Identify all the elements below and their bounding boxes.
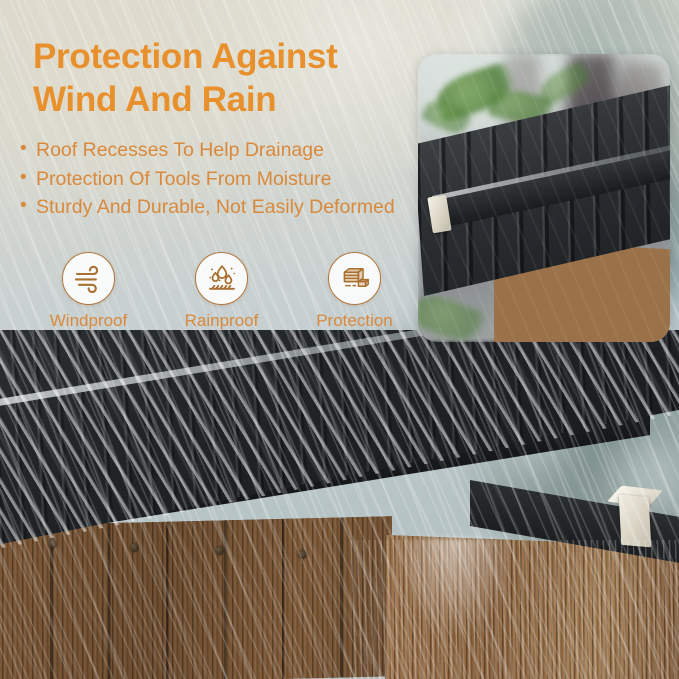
feature-icon-row: Windproof Rainproof xyxy=(22,252,422,342)
raindrops-icon xyxy=(195,252,248,305)
wall-screw xyxy=(298,550,307,559)
bullet-item: Protection Of Tools From Moisture xyxy=(20,166,420,194)
headline-line-1: Protection Against xyxy=(33,35,413,78)
headline-line-2: Wind And Rain xyxy=(33,78,413,121)
feature-bullet-list: Roof Recesses To Help Drainage Protectio… xyxy=(20,137,420,223)
product-feature-image: Protection Against Wind And Rain Roof Re… xyxy=(0,0,679,679)
shed-wood-wall-left xyxy=(0,516,392,679)
feature-label: Protection xyxy=(316,312,393,329)
feature-rainproof: Rainproof xyxy=(155,252,288,342)
bullet-item: Roof Recesses To Help Drainage xyxy=(20,137,420,165)
stacked-boards-icon xyxy=(328,252,381,305)
wall-screw xyxy=(130,543,139,552)
main-roof-photo xyxy=(0,330,679,679)
wall-screw xyxy=(48,540,57,549)
inset-roof-closeup-photo xyxy=(418,54,670,342)
rain-splash xyxy=(390,538,520,643)
headline: Protection Against Wind And Rain xyxy=(33,35,413,122)
wall-screw xyxy=(215,546,224,555)
feature-windproof: Windproof xyxy=(22,252,155,342)
bullet-item: Sturdy And Durable, Not Easily Deformed xyxy=(20,194,420,222)
feature-protection: Protection xyxy=(288,252,421,342)
inset-rain-layer xyxy=(418,54,670,342)
feature-label: Windproof xyxy=(50,312,127,329)
feature-label: Rainproof xyxy=(185,312,259,329)
wind-icon xyxy=(62,252,115,305)
